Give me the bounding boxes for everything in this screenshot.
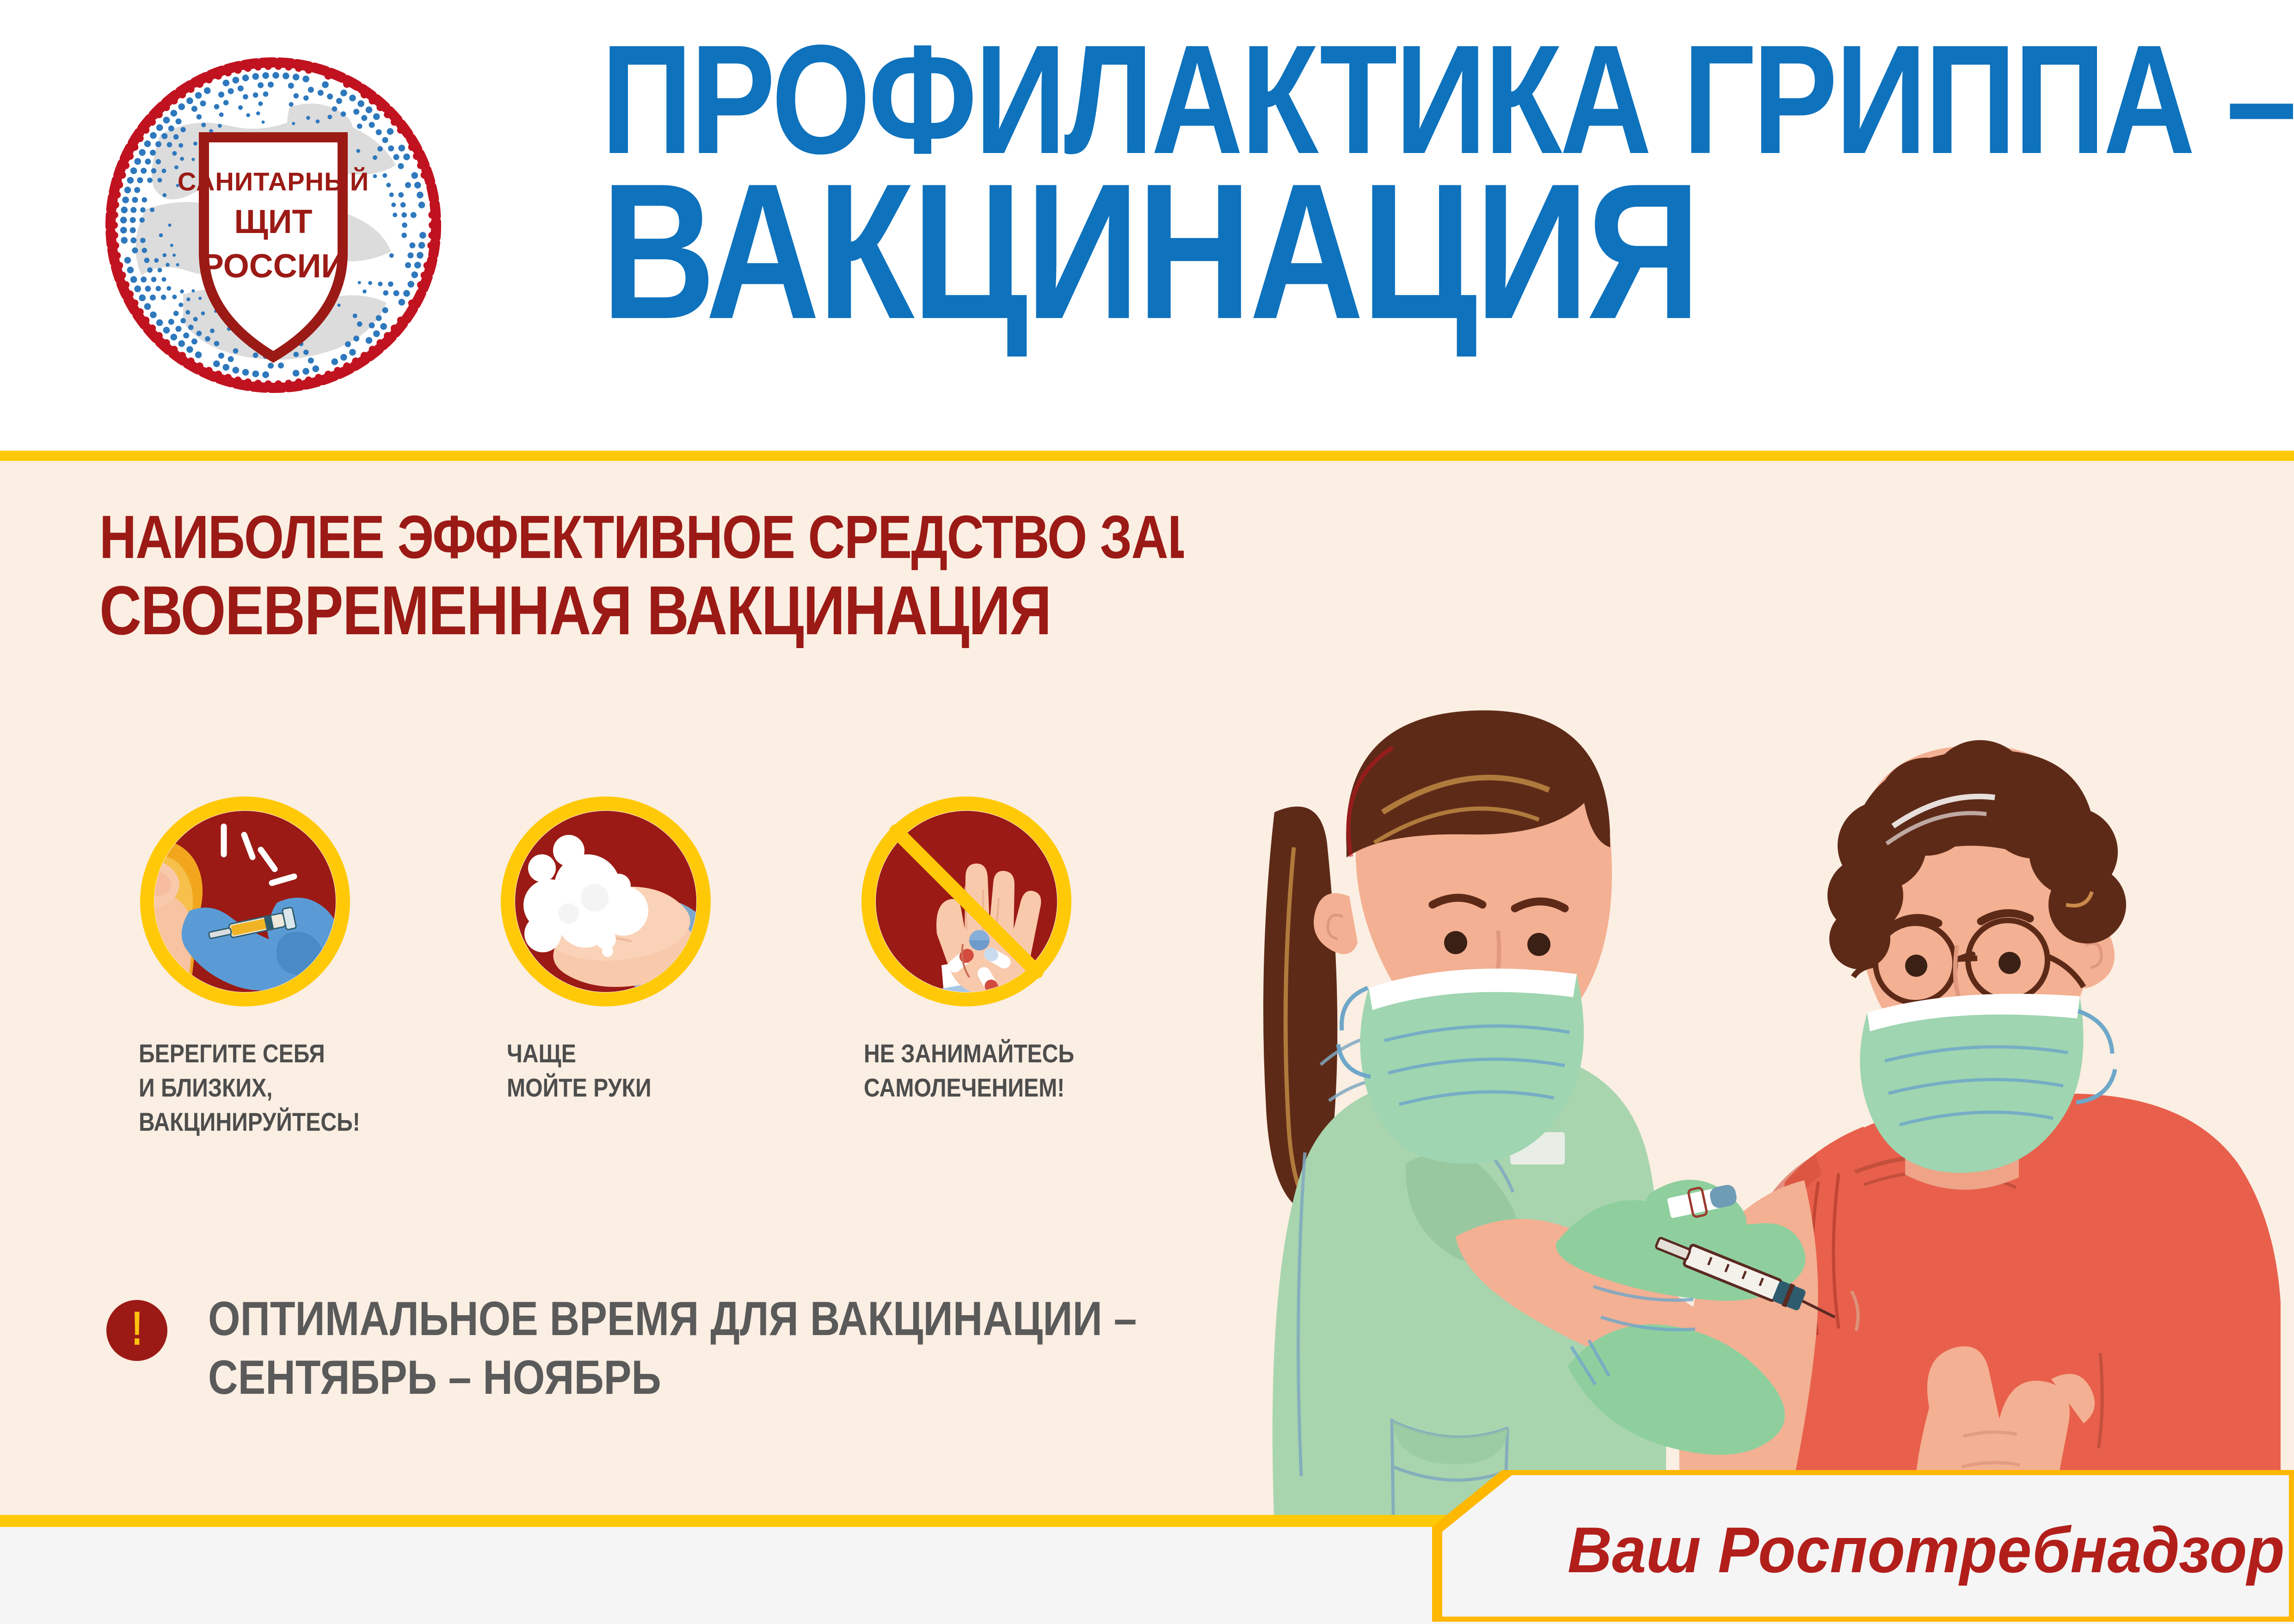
advice-icon-row: БЕРЕГИТЕ СЕБЯ И БЛИЗКИХ, ВАКЦИНИРУЙТЕСЬ! (0, 795, 1248, 1211)
shield-line-3: РОССИИ (202, 248, 345, 285)
exclamation-badge-icon: ! (106, 1300, 167, 1361)
advice-item-no-self-medication: НЕ ЗАНИМАЙТЕСЬ САМОЛЕЧЕНИЕМ! (860, 795, 1184, 1105)
nurse-vaccinating-patient-illustration (1184, 461, 2294, 1527)
callout-line-2: СЕНТЯБРЬ – НОЯБРЬ (208, 1348, 1137, 1407)
poster-root: САНИТАРНЫЙ ЩИТ РОССИИ ПРОФИЛАКТИКА ГРИПП… (0, 0, 2294, 1622)
headline-line-2: СВОЕВРЕМЕННАЯ ВАКЦИНАЦИЯ (99, 575, 1304, 646)
rospotrebnadzor-banner: Ваш Роспотребнадзор (1415, 1470, 2294, 1622)
callout-text-block: ОПТИМАЛЬНОЕ ВРЕМЯ ДЛЯ ВАКЦИНАЦИИ – СЕНТЯ… (208, 1290, 1288, 1407)
advice-item-handwashing: ЧАЩЕ МОЙТЕ РУКИ (499, 795, 823, 1105)
advice-item-vaccination: БЕРЕГИТЕ СЕБЯ И БЛИЗКИХ, ВАКЦИНИРУЙТЕСЬ! (139, 795, 462, 1139)
optimal-time-callout: ! ОПТИМАЛЬНОЕ ВРЕМЯ ДЛЯ ВАКЦИНАЦИИ – СЕН… (106, 1290, 1309, 1442)
exclamation-symbol: ! (131, 1305, 142, 1353)
shield-line-2: ЩИТ (234, 203, 312, 240)
advice-caption-vaccination: БЕРЕГИТЕ СЕБЯ И БЛИЗКИХ, ВАКЦИНИРУЙТЕСЬ! (139, 1036, 417, 1139)
no-self-medication-icon (860, 795, 1073, 1008)
hand-washing-icon (499, 795, 712, 1008)
footer-label: Ваш Роспотребнадзор (1568, 1513, 2285, 1587)
advice-caption-handwashing: ЧАЩЕ МОЙТЕ РУКИ (507, 1036, 779, 1105)
sanitary-shield-of-russia-emblem: САНИТАРНЫЙ ЩИТ РОССИИ (91, 43, 456, 408)
shield-line-1: САНИТАРНЫЙ (178, 167, 369, 196)
vaccination-injection-icon (139, 795, 351, 1008)
title-line-2: ВАКЦИНАЦИЯ (601, 162, 1898, 342)
headline-line-1: НАИБОЛЕЕ ЭФФЕКТИВНОЕ СРЕДСТВО ЗАЩИТЫ ОТ … (99, 506, 1304, 569)
poster-title: ПРОФИЛАКТИКА ГРИППА – ВАКЦИНАЦИЯ (601, 28, 2183, 421)
poster-header: САНИТАРНЫЙ ЩИТ РОССИИ ПРОФИЛАКТИКА ГРИПП… (0, 0, 2294, 451)
advice-caption-no-self-medication: НЕ ЗАНИМАЙТЕСЬ САМОЛЕЧЕНИЕМ! (864, 1036, 1139, 1105)
header-divider (0, 451, 2294, 461)
callout-line-1: ОПТИМАЛЬНОЕ ВРЕМЯ ДЛЯ ВАКЦИНАЦИИ – (208, 1290, 1137, 1348)
